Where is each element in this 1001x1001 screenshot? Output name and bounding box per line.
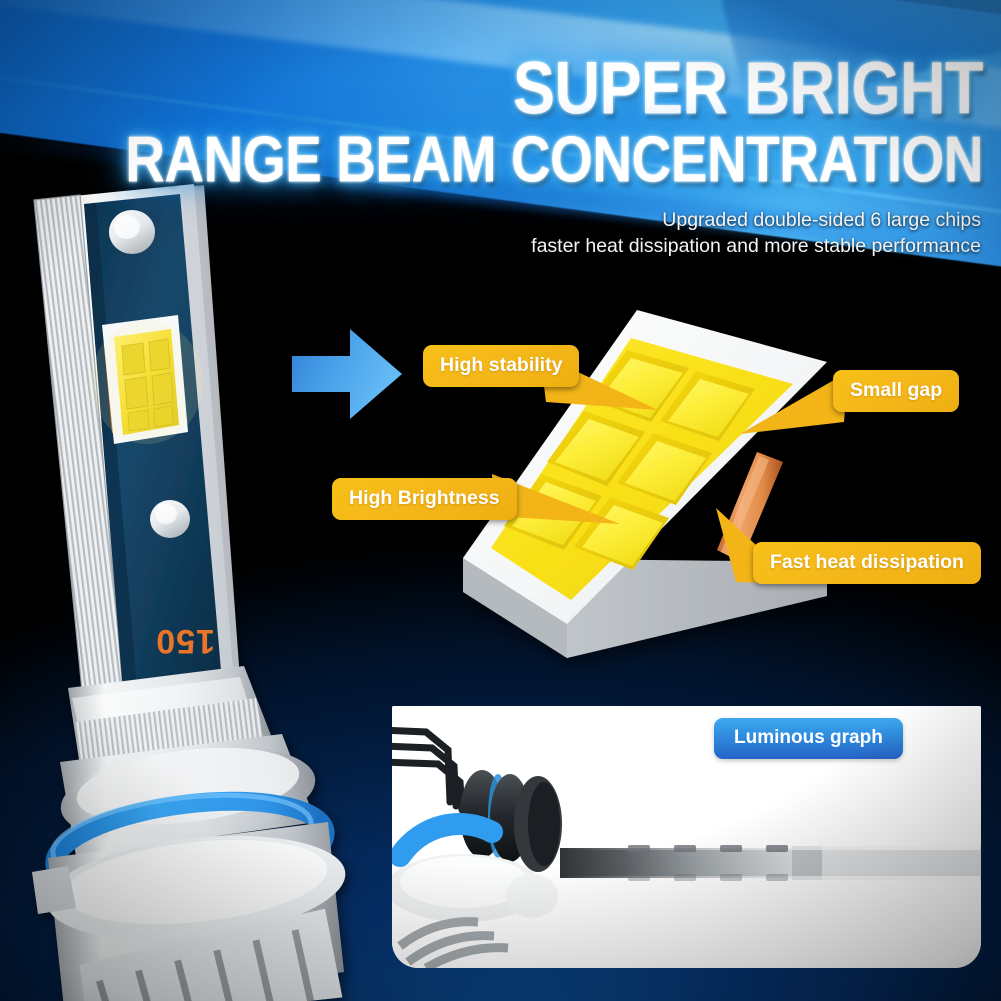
callout-fast-heat-dissipation[interactable]: Fast heat dissipation (753, 542, 981, 584)
subtitle-line-2: faster heat dissipation and more stable … (531, 234, 981, 260)
subtitle-line-1: Upgraded double-sided 6 large chips (531, 208, 981, 234)
subtitle: Upgraded double-sided 6 large chips fast… (531, 208, 981, 260)
headline-line-1: SUPER BRIGHT (125, 52, 983, 126)
callout-high-stability[interactable]: High stability (423, 345, 579, 387)
led-bulb-product-image: 150 (0, 182, 402, 1001)
headline-line-2: RANGE BEAM CONCENTRATION (125, 127, 983, 192)
luminous-graph-badge[interactable]: Luminous graph (714, 718, 903, 759)
callout-small-gap[interactable]: Small gap (833, 370, 959, 412)
luminous-graph-panel: Luminous graph (392, 706, 981, 968)
bulb-marking-150: 150 (155, 622, 215, 660)
callout-high-brightness[interactable]: High Brightness (332, 478, 517, 520)
promo-banner: SUPER BRIGHT RANGE BEAM CONCENTRATION Up… (0, 0, 1001, 1001)
headline: SUPER BRIGHT RANGE BEAM CONCENTRATION (125, 52, 983, 182)
arrow-right-icon (292, 325, 402, 423)
